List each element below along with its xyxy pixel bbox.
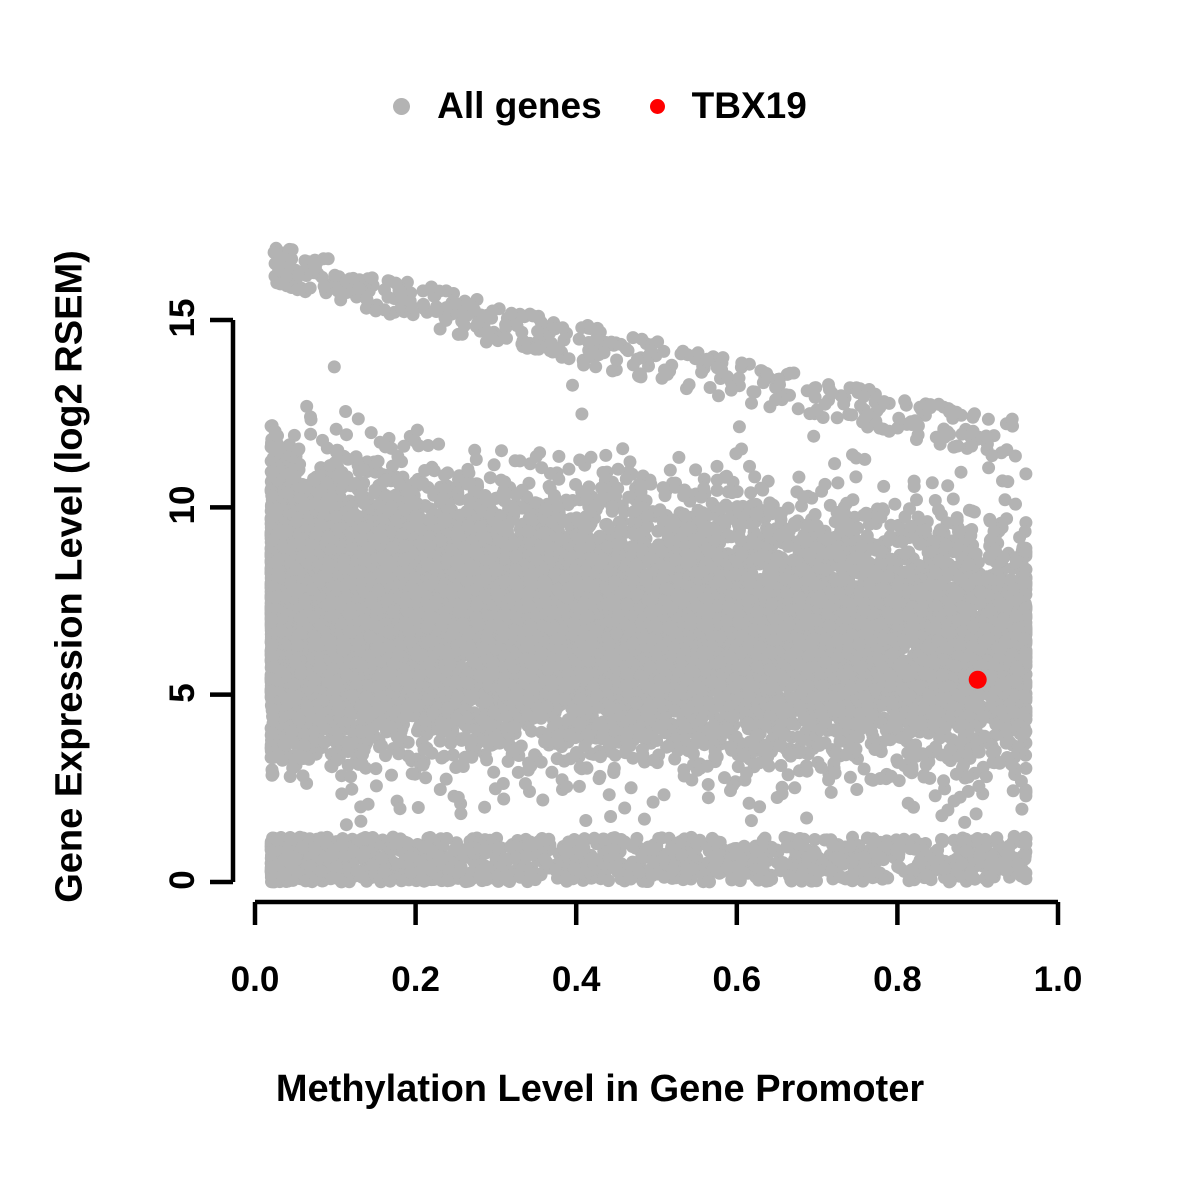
x-tick-label: 0.2 xyxy=(391,960,440,1000)
plot-canvas xyxy=(0,0,1200,1200)
y-tick-label: 5 xyxy=(163,668,203,718)
x-tick-label: 0.6 xyxy=(712,960,761,1000)
x-tick-label: 1.0 xyxy=(1034,960,1083,1000)
highlight-point-tbx19 xyxy=(969,671,987,689)
x-tick-label: 0.0 xyxy=(231,960,280,1000)
y-tick-label: 15 xyxy=(163,293,203,343)
y-tick-label: 10 xyxy=(163,480,203,530)
y-axis-title: Gene Expression Level (log2 RSEM) xyxy=(49,0,92,1177)
scatter-plot-figure: All genes TBX19 0.00.20.40.60.81.0 05101… xyxy=(0,0,1200,1200)
highlight-points-layer xyxy=(969,671,987,689)
x-tick-label: 0.4 xyxy=(552,960,601,1000)
y-tick-label: 0 xyxy=(163,855,203,905)
x-tick-label: 0.8 xyxy=(873,960,922,1000)
data-points-layer xyxy=(265,242,1033,889)
x-axis-title: Methylation Level in Gene Promoter xyxy=(0,1068,1200,1111)
